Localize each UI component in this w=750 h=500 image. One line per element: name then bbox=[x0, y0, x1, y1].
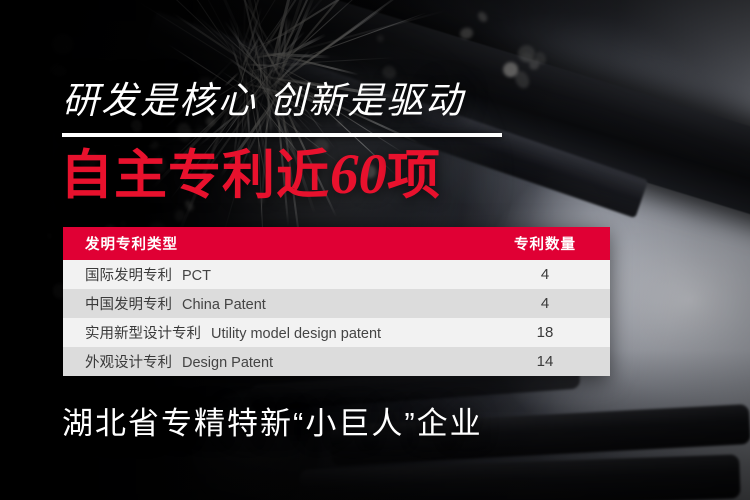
headline-main-suffix: 项 bbox=[387, 146, 441, 205]
poster-content: 研发是核心 创新是驱动 自主专利近60项 发明专利类型 专利数量 国际发明专利P… bbox=[0, 0, 750, 500]
table-cell-count: 18 bbox=[480, 324, 610, 341]
poster-root: 研发是核心 创新是驱动 自主专利近60项 发明专利类型 专利数量 国际发明专利P… bbox=[0, 0, 750, 500]
headline-main: 自主专利近60项 bbox=[60, 146, 441, 203]
patent-type-cn: 中国发明专利 bbox=[85, 293, 172, 314]
table-cell-type: 实用新型设计专利Utility model design patent bbox=[63, 322, 480, 343]
table-row: 外观设计专利Design Patent14 bbox=[63, 347, 610, 376]
patent-type-cn: 国际发明专利 bbox=[85, 264, 172, 285]
patent-type-en: Design Patent bbox=[182, 355, 273, 371]
table-body: 国际发明专利PCT4中国发明专利China Patent4实用新型设计专利Uti… bbox=[63, 260, 610, 376]
poster-caption: 湖北省专精特新“小巨人”企业 bbox=[62, 398, 483, 443]
headline-main-number: 60 bbox=[330, 143, 387, 206]
table-row: 国际发明专利PCT4 bbox=[63, 260, 610, 289]
table-header-row: 发明专利类型 专利数量 bbox=[63, 227, 610, 260]
table-header-type: 发明专利类型 bbox=[63, 233, 480, 254]
table-row: 中国发明专利China Patent4 bbox=[63, 289, 610, 318]
table-row: 实用新型设计专利Utility model design patent18 bbox=[63, 318, 610, 347]
headline-divider bbox=[62, 133, 502, 137]
patent-type-en: China Patent bbox=[182, 297, 266, 313]
headline-top: 研发是核心 创新是驱动 bbox=[62, 82, 464, 119]
headline-main-prefix: 自主专利近 bbox=[60, 146, 330, 205]
table-header-count: 专利数量 bbox=[480, 233, 610, 254]
table-cell-count: 4 bbox=[480, 295, 610, 312]
patent-type-en: Utility model design patent bbox=[211, 326, 381, 342]
table-cell-type: 中国发明专利China Patent bbox=[63, 293, 480, 314]
patent-type-cn: 外观设计专利 bbox=[85, 351, 172, 372]
table-cell-count: 14 bbox=[480, 353, 610, 370]
patent-type-cn: 实用新型设计专利 bbox=[85, 322, 201, 343]
patent-type-en: PCT bbox=[182, 268, 211, 284]
table-cell-count: 4 bbox=[480, 266, 610, 283]
table-cell-type: 国际发明专利PCT bbox=[63, 264, 480, 285]
patent-table: 发明专利类型 专利数量 国际发明专利PCT4中国发明专利China Patent… bbox=[63, 227, 610, 376]
table-cell-type: 外观设计专利Design Patent bbox=[63, 351, 480, 372]
